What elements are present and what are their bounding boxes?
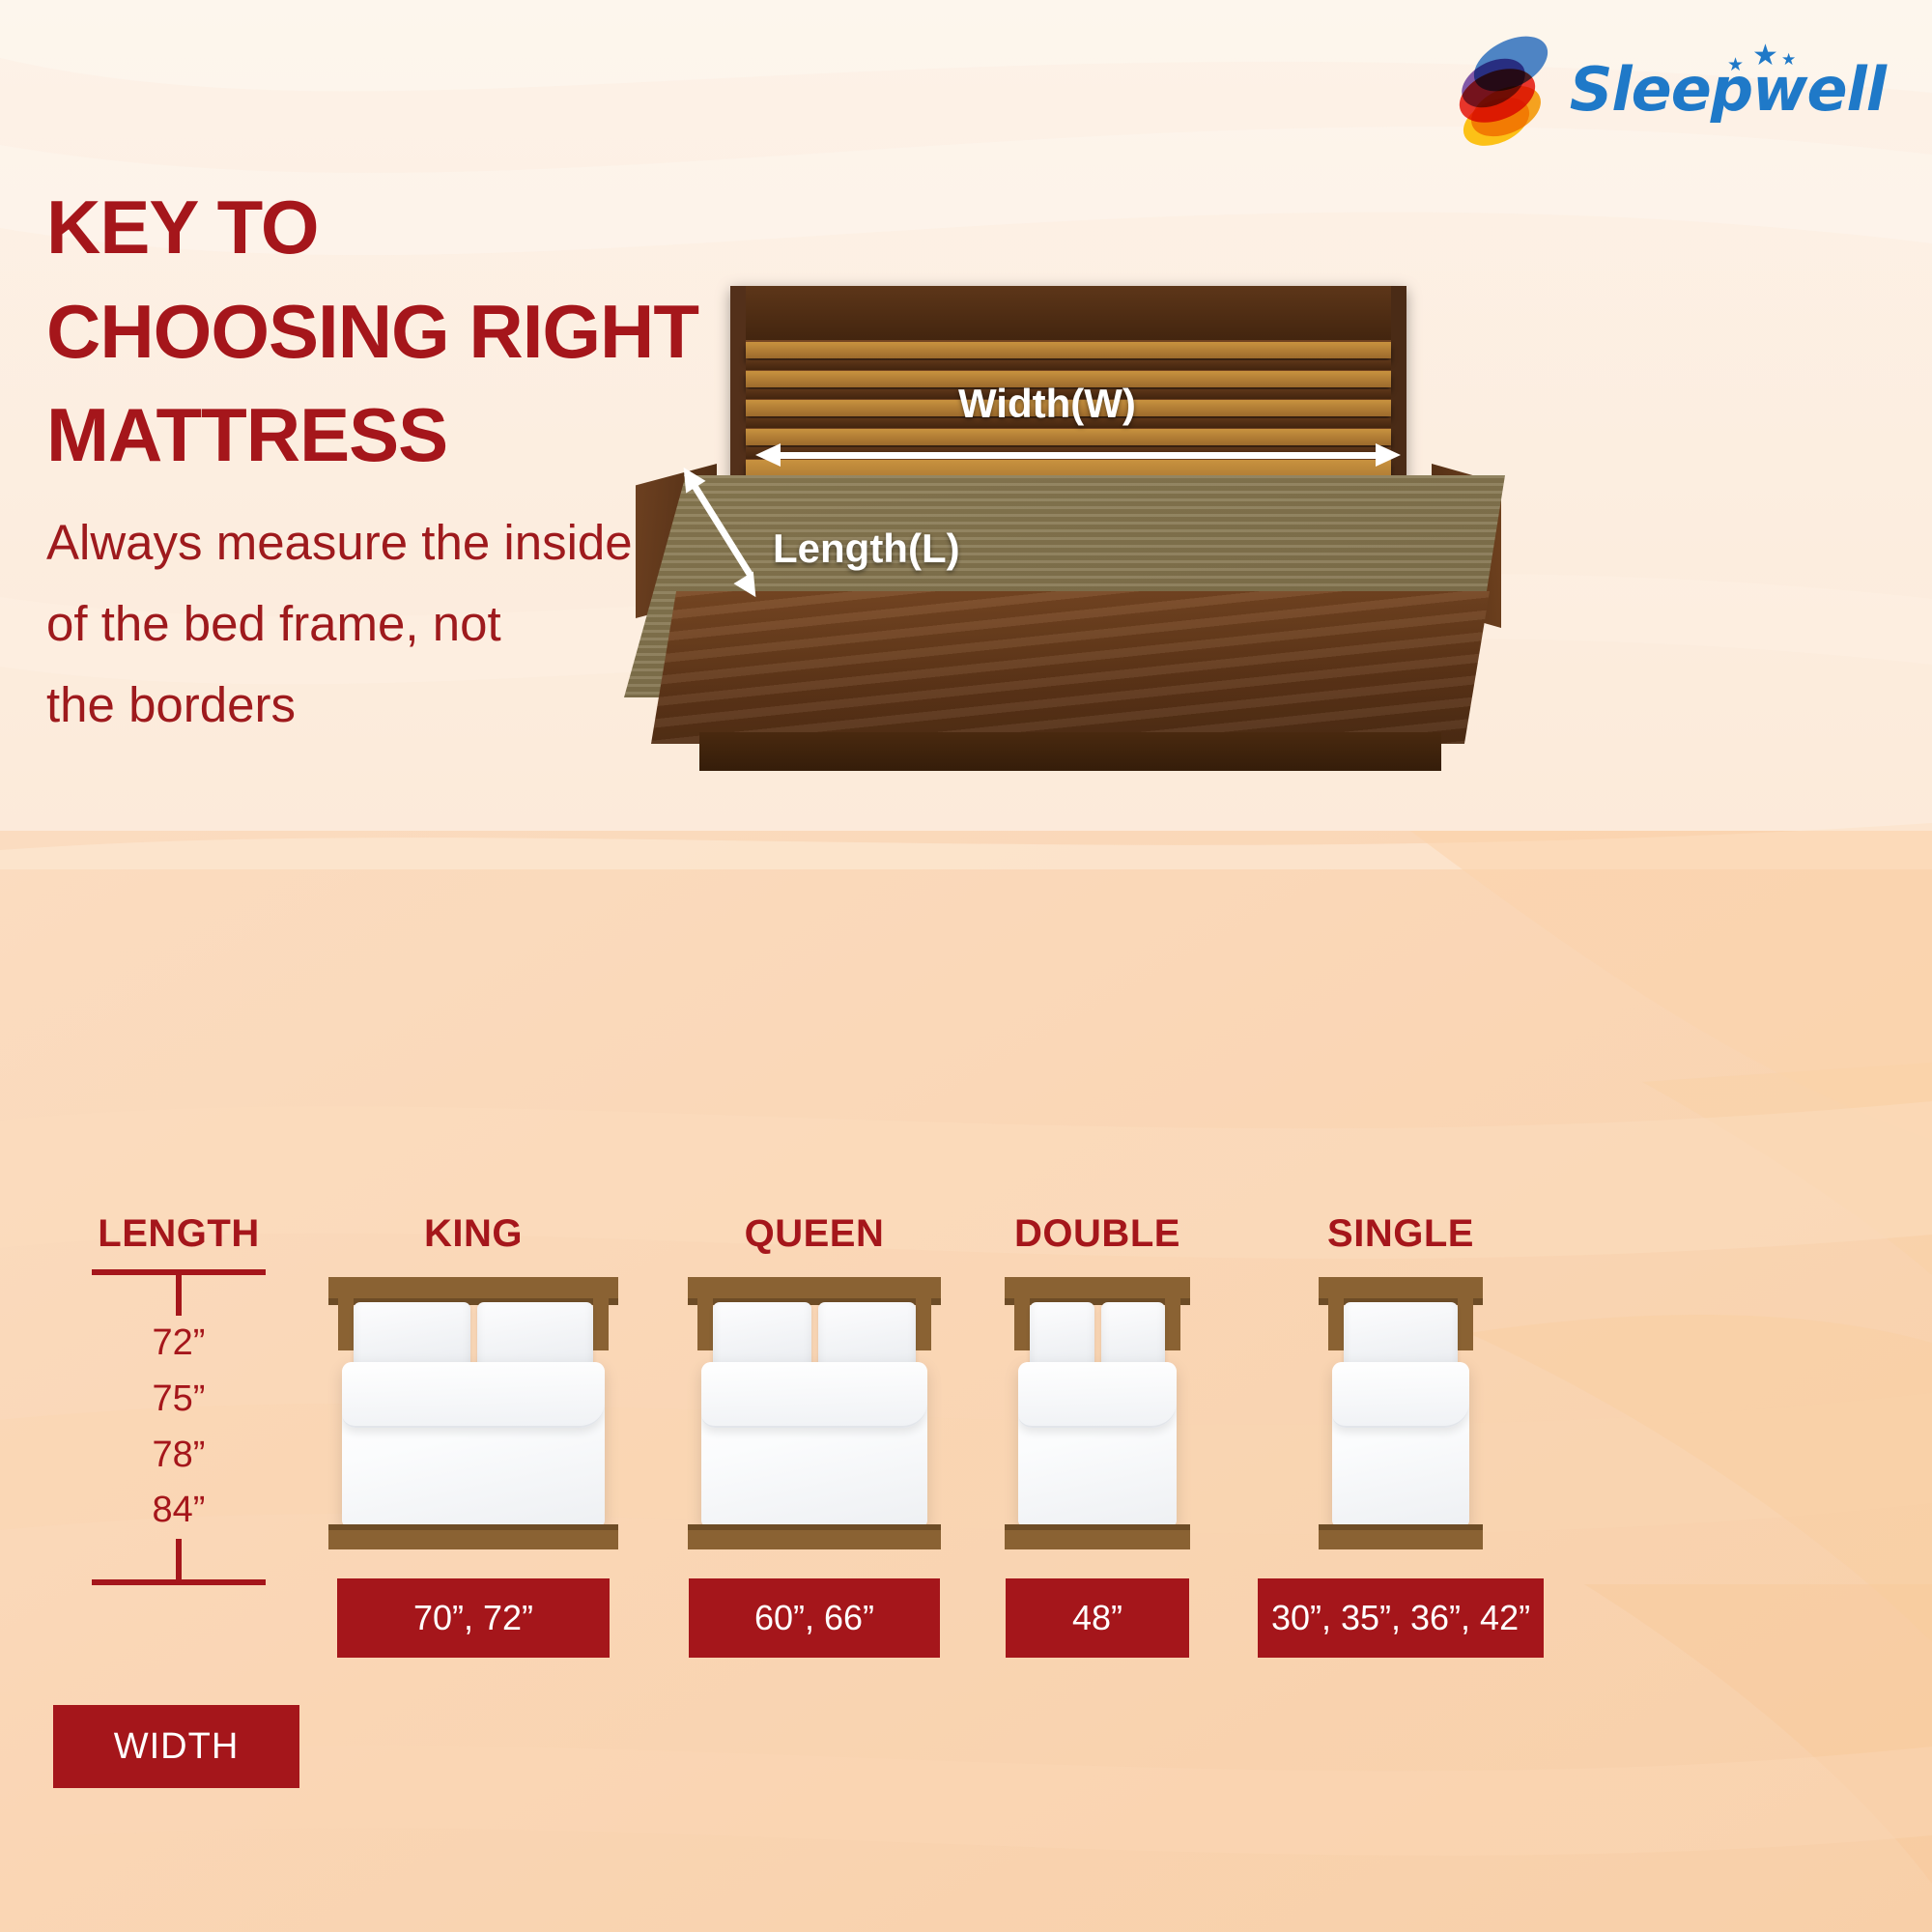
size-column-king: KING70”, 72” [328,1212,618,1658]
width-chip: WIDTH [53,1705,299,1788]
bed-top-view [688,1277,941,1549]
bed-post-left [697,1298,713,1350]
bed-post-right [593,1298,609,1350]
bracket-tick-bottom [176,1539,182,1579]
bed-frame-illustration: Width(W) Length(L) [624,286,1505,788]
duvet [1332,1362,1469,1526]
width-dimension-line [771,452,1389,459]
bed-footboard-bar [688,1530,941,1549]
size-column-title: KING [328,1212,618,1256]
brand-logo: Sleepwell [1456,37,1886,141]
width-arrow-left-icon [755,443,781,467]
length-value: 84” [58,1483,299,1539]
length-value: 78” [58,1428,299,1484]
bed-top-view [1319,1277,1483,1549]
size-column-title: DOUBLE [1005,1212,1190,1256]
bed-footboard-bar [328,1530,618,1549]
duvet [1018,1362,1177,1526]
bed-side-rail [651,591,1490,744]
length-scale: LENGTH 72”75”78”84” [58,1212,299,1585]
headboard-gap-1 [746,360,1391,370]
duvet [701,1362,927,1526]
bed-post-left [1328,1298,1344,1350]
size-width-chip: 30”, 35”, 36”, 42” [1258,1578,1544,1658]
length-label: Length(L) [773,526,960,572]
page-title: KEY TO CHOOSING RIGHT MATTRESS [46,176,698,488]
bed-footboard-bar [1005,1530,1190,1549]
bed-post-right [1165,1298,1180,1350]
size-column-title: QUEEN [688,1212,941,1256]
subheadline-line-2: of the bed frame, not [46,583,633,665]
bed-headboard-bar [1319,1277,1483,1298]
sleepwell-s-logo-icon [1456,37,1545,141]
bed-top-view [1005,1277,1190,1549]
rail-wood-grain [651,591,1490,744]
subheadline: Always measure the inside of the bed fra… [46,502,633,746]
size-width-chip: 60”, 66” [689,1578,940,1658]
width-label: Width(W) [958,381,1136,427]
bed-post-left [338,1298,354,1350]
duvet [342,1362,605,1526]
subheadline-line-3: the borders [46,665,633,746]
length-scale-title: LENGTH [58,1212,299,1256]
length-values-list: 72”75”78”84” [58,1316,299,1539]
subheadline-line-1: Always measure the inside [46,502,633,583]
bed-base-plinth [699,732,1441,771]
size-column-queen: QUEEN60”, 66” [688,1212,941,1658]
size-column-title: SINGLE [1258,1212,1544,1256]
size-width-chip: 48” [1006,1578,1189,1658]
headline-line-1: KEY TO [46,176,698,280]
bed-footboard-bar [1319,1530,1483,1549]
bed-headboard-bar [328,1277,618,1298]
bed-headboard-bar [688,1277,941,1298]
size-column-single: SINGLE30”, 35”, 36”, 42” [1258,1212,1544,1658]
bed-post-right [1458,1298,1473,1350]
size-width-chip: 70”, 72” [337,1578,610,1658]
bracket-tick-top [176,1275,182,1316]
width-arrow-right-icon [1376,443,1401,467]
bed-headboard-bar [1005,1277,1190,1298]
headline-line-3: MATTRESS [46,384,698,488]
bed-top-view [328,1277,618,1549]
bed-post-left [1014,1298,1030,1350]
headboard-slat-light-4 [746,429,1391,445]
bracket-bar-bottom [92,1579,266,1585]
headline-line-2: CHOOSING RIGHT [46,280,698,384]
length-bracket-bottom [58,1539,299,1585]
length-value: 75” [58,1372,299,1428]
headboard-slat-dark-1 [746,286,1391,340]
bed-post-right [916,1298,931,1350]
length-bracket-top [58,1269,299,1316]
headboard-slat-light-1 [746,342,1391,358]
size-column-double: DOUBLE48” [1005,1212,1190,1658]
length-value: 72” [58,1316,299,1372]
